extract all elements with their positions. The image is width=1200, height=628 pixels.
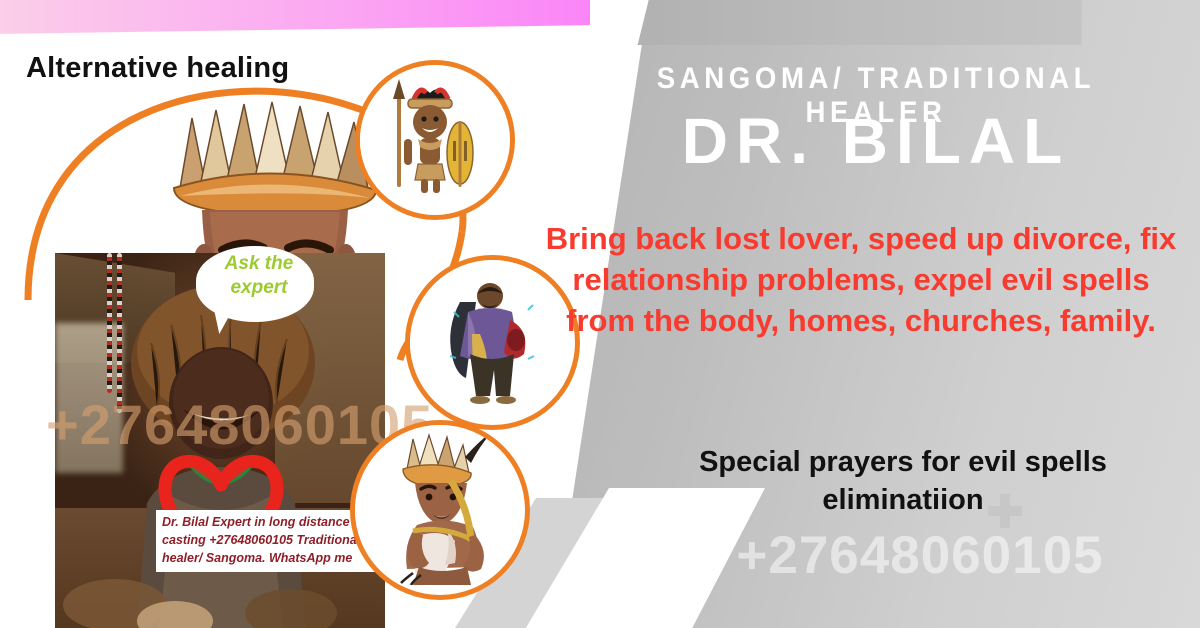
contact-phone-number: +27648060105 (640, 525, 1200, 586)
brand-name: DR. BILAL (566, 104, 1186, 178)
speech-bubble-label: Ask the expert (205, 252, 313, 300)
badge-zulu-warrior-cartoon (355, 60, 515, 220)
pink-gradient-strip (0, 0, 590, 34)
services-text: Bring back lost lover, speed up divorce,… (536, 218, 1186, 342)
badge-crouching-warrior-illustration (350, 420, 530, 600)
page-title: Alternative healing (26, 52, 289, 85)
special-prayers-text: Special prayers for evil spells eliminat… (620, 443, 1186, 520)
poster-canvas: Alternative healing (0, 0, 1200, 628)
